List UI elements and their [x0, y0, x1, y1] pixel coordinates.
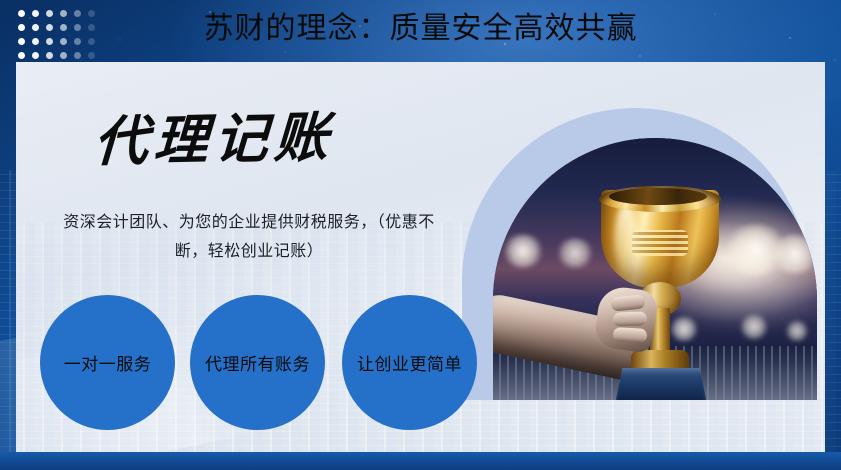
- feature-circle-label: 让创业更简单: [357, 350, 462, 375]
- dot: [18, 52, 25, 59]
- trophy-rim: [599, 186, 721, 212]
- bokeh-light: [769, 234, 817, 274]
- trophy-base: [615, 368, 707, 400]
- main-heading: 代理记账: [92, 105, 335, 174]
- finger-shape: [613, 327, 648, 343]
- dot: [88, 52, 95, 59]
- finger-shape: [613, 311, 647, 326]
- body-paragraph: 资深会计团队、为您的企业提供财税服务，（优惠不断，轻松创业记账）: [60, 208, 438, 266]
- dot: [74, 52, 81, 59]
- dot: [60, 52, 67, 59]
- trophy-inner-shadow: [609, 188, 707, 205]
- feature-circle-3[interactable]: 让创业更简单: [342, 295, 477, 430]
- feature-circle-label: 一对一服务: [64, 350, 152, 375]
- trophy-emblem: [632, 230, 688, 256]
- dot: [46, 52, 53, 59]
- bokeh-light: [555, 238, 595, 268]
- feature-circle-1[interactable]: 一对一服务: [40, 295, 175, 430]
- trophy-photo: [493, 138, 817, 400]
- slide-header: 苏财的理念：质量安全高效共赢: [0, 0, 841, 62]
- bokeh-light: [785, 320, 809, 342]
- bokeh-light: [501, 234, 545, 268]
- bokeh-light: [739, 314, 769, 340]
- feature-circle-2[interactable]: 代理所有账务: [190, 295, 325, 430]
- bottom-accent-strip: [0, 452, 841, 470]
- slide-canvas: 苏财的理念：质量安全高效共赢: [0, 0, 841, 470]
- trophy-highlight: [615, 204, 637, 274]
- dot: [32, 52, 39, 59]
- page-title: 苏财的理念：质量安全高效共赢: [0, 6, 841, 52]
- feature-circle-label: 代理所有账务: [205, 350, 310, 375]
